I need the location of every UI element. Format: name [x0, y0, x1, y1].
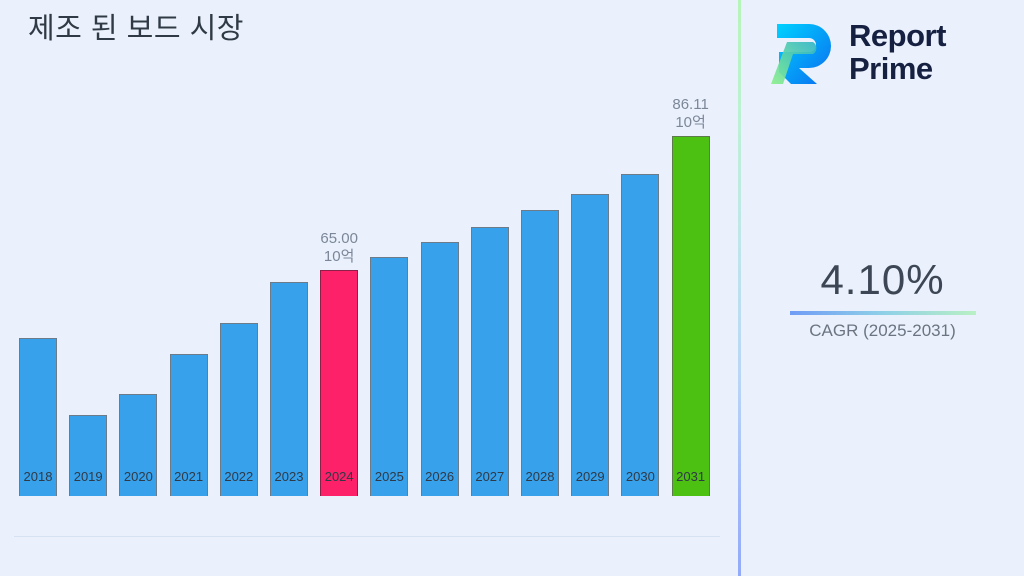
x-axis-tick-2020: 2020 [124, 469, 153, 484]
bar-group-2024: 65.0010억2024 [320, 270, 358, 496]
x-axis-tick-2021: 2021 [174, 469, 203, 484]
brand-name: Report Prime [849, 19, 946, 85]
bar-group-2023: 2023 [270, 282, 308, 496]
bar-2026[interactable] [421, 242, 459, 496]
bar-group-2027: 2027 [471, 227, 509, 496]
bar-2027[interactable] [471, 227, 509, 496]
bar-group-2031: 86.1110억2031 [672, 136, 710, 496]
bar-group-2019: 2019 [69, 415, 107, 496]
bar-group-2018: 2018 [19, 338, 57, 496]
x-axis-tick-2023: 2023 [275, 469, 304, 484]
bar-value-number: 65.00 [320, 230, 358, 247]
x-axis-tick-2019: 2019 [74, 469, 103, 484]
bar-group-2022: 2022 [220, 323, 258, 496]
bar-value-number: 86.11 [672, 96, 708, 113]
x-axis-tick-2030: 2030 [626, 469, 655, 484]
bar-group-2025: 2025 [370, 257, 408, 496]
x-axis-tick-2028: 2028 [526, 469, 555, 484]
bar-2028[interactable] [521, 210, 559, 496]
bar-2030[interactable] [621, 174, 659, 496]
bar-group-2030: 2030 [621, 174, 659, 496]
bar-chart-plot: 20182019202020212022202365.0010억20242025… [0, 0, 726, 576]
cagr-divider-rule [790, 311, 976, 315]
bar-group-2021: 2021 [170, 354, 208, 496]
brand-name-line1: Report [849, 18, 946, 53]
bar-group-2020: 2020 [119, 394, 157, 496]
bar-group-2026: 2026 [421, 242, 459, 496]
bar-2029[interactable] [571, 194, 609, 496]
x-axis-tick-2031: 2031 [676, 469, 705, 484]
x-axis-tick-2029: 2029 [576, 469, 605, 484]
bar-group-2028: 2028 [521, 210, 559, 496]
x-axis-line [14, 536, 720, 537]
x-axis-tick-2018: 2018 [24, 469, 53, 484]
right-info-panel: Report Prime 4.10% CAGR (2025-2031) [741, 0, 1024, 576]
brand-name-line2: Prime [849, 51, 933, 86]
x-axis-tick-2022: 2022 [224, 469, 253, 484]
brand-logo: Report Prime [765, 12, 1005, 92]
x-axis-tick-2024: 2024 [325, 469, 354, 484]
cagr-block: 4.10% CAGR (2025-2031) [741, 255, 1024, 343]
report-prime-logo-icon [765, 16, 839, 88]
cagr-caption: CAGR (2025-2031) [741, 319, 1024, 343]
cagr-value: 4.10% [741, 255, 1024, 305]
x-axis-tick-2027: 2027 [475, 469, 504, 484]
bar-value-label-2031: 86.1110억 [672, 96, 708, 132]
bar-value-label-2024: 65.0010억 [320, 230, 358, 266]
bar-2031[interactable] [672, 136, 710, 496]
bar-series: 20182019202020212022202365.0010억20242025… [0, 0, 726, 536]
bar-2025[interactable] [370, 257, 408, 496]
bar-value-unit: 10억 [320, 248, 358, 266]
x-axis-tick-2026: 2026 [425, 469, 454, 484]
bar-2023[interactable] [270, 282, 308, 496]
bar-value-unit: 10억 [672, 114, 708, 132]
bar-group-2029: 2029 [571, 194, 609, 496]
x-axis-tick-2025: 2025 [375, 469, 404, 484]
chart-screenshot: 제조 된 보드 시장 20182019202020212022202365.00… [0, 0, 1024, 576]
bar-2024[interactable] [320, 270, 358, 496]
